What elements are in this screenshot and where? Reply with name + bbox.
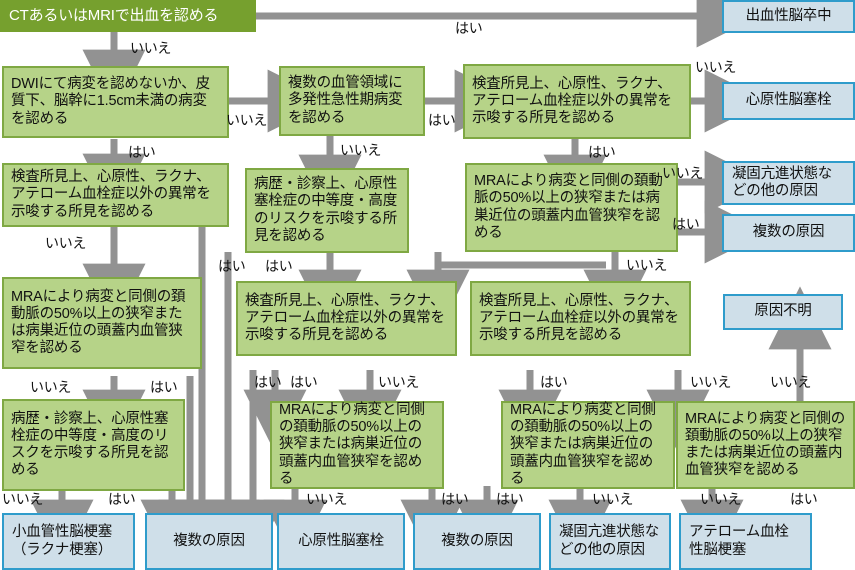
edge-label-mrac4-no2: いいえ (700, 489, 741, 509)
decision-mra-stenosis-c3[interactable]: MRAにより病変と同側の頚動脈の50%以上の狭窄または病巣近位の頭蓋内血管狭窄を… (501, 401, 675, 489)
node-label: MRAにより病変と同側の頚動脈の50%以上の狭窄または病巣近位の頭蓋内血管狭窄を… (510, 402, 666, 488)
node-label: CTあるいはMRIで出血を認める (9, 7, 247, 25)
edge-label-mrarighttop-no: いいえ (662, 163, 703, 183)
node-label: 凝固亢進状態などの他の原因 (732, 166, 845, 200)
node-label: 複数の原因 (423, 533, 531, 550)
outcome-hypercoagulable-bottom[interactable]: 凝固亢進状態などの他の原因 (549, 513, 671, 570)
decision-history-cardioembolic-risk-left[interactable]: 病歴・診察上、心原性塞栓症の中等度・高度のリスクを示唆する所見を認める (2, 399, 185, 491)
edge-label-mramid-yes: はい (441, 489, 468, 509)
outcome-multiple-causes-top[interactable]: 複数の原因 (722, 214, 855, 252)
decision-mra-stenosis-mid[interactable]: MRAにより病変と同側の頚動脈の50%以上の狭窄または病巣近位の頭蓋内血管狭窄を… (270, 401, 444, 489)
edge-label-mramid-no: いいえ (306, 489, 347, 509)
edge-label-labmid-no: いいえ (378, 372, 419, 392)
node-label: 心原性脳塞栓 (732, 92, 845, 109)
edge-label-dwi-yes: はい (128, 142, 155, 162)
edge-label-mraleft-yes: はい (150, 377, 177, 397)
node-label: 複数の原因 (155, 533, 263, 550)
edge-label-mrarighttop-yes: はい (672, 214, 699, 234)
decision-mra-stenosis-left[interactable]: MRAにより病変と同側の頚動脈の50%以上の狭窄または病巣近位の頭蓋内血管狭窄を… (2, 277, 202, 369)
node-label: 検査所見上、心原性、ラクナ、アテローム血栓症以外の異常を示唆する所見を認める (245, 293, 448, 344)
decision-lab-findings-left[interactable]: 検査所見上、心原性、ラクナ、アテローム血栓症以外の異常を示唆する所見を認める (2, 163, 229, 227)
outcome-cardioembolic-bottom[interactable]: 心原性脳塞栓 (277, 513, 405, 570)
edge-label-histleft-yes: はい (108, 489, 135, 509)
edge-label-labmid-yes: はい (254, 372, 281, 392)
outcome-unknown-cause[interactable]: 原因不明 (723, 294, 843, 330)
outcome-multiple-causes-b2[interactable]: 複数の原因 (413, 513, 541, 570)
outcome-atherothrombotic-infarction[interactable]: アテローム血栓性脳梗塞 (679, 513, 812, 570)
node-label: 小血管性脳梗塞（ラクナ梗塞） (12, 524, 125, 558)
node-label: 検査所見上、心原性、ラクナ、アテローム血栓症以外の異常を示唆する所見を認める (11, 169, 220, 220)
edge-label-lableft-yes: はい (218, 256, 245, 276)
node-label: 検査所見上、心原性、ラクナ、アテローム血栓症以外の異常を示唆する所見を認める (472, 76, 682, 127)
decision-history-cardioembolic-risk-mid[interactable]: 病歴・診察上、心原性塞栓症の中等度・高度のリスクを示唆する所見を認める (245, 168, 409, 253)
outcome-hemorrhagic-stroke[interactable]: 出血性脳卒中 (722, 0, 855, 33)
edge-label-labright-yes: はい (540, 372, 567, 392)
edge-label-mrarighttop-no2: いいえ (626, 255, 667, 275)
outcome-cardioembolic-top[interactable]: 心原性脳塞栓 (722, 82, 855, 120)
edge-label-histleft-no: いいえ (2, 489, 43, 509)
edge-label-mrac3-yes: はい (496, 489, 523, 509)
edge-label-mrac3b-no: いいえ (592, 489, 633, 509)
edge-label-labmid-yes2: はい (290, 372, 317, 392)
flowchart-canvas: CTあるいはMRIで出血を認める 出血性脳卒中 DWIにて病変を認めないか、皮質… (0, 0, 855, 570)
node-label: MRAにより病変と同側の頚動脈の50%以上の狭窄または病巣近位の頭蓋内血管狭窄を… (685, 411, 846, 479)
node-label: 心原性脳塞栓 (287, 533, 395, 550)
decision-lab-findings-mid[interactable]: 検査所見上、心原性、ラクナ、アテローム血栓症以外の異常を示唆する所見を認める (236, 281, 457, 356)
node-label: 原因不明 (733, 303, 833, 320)
outcome-small-vessel-lacunar[interactable]: 小血管性脳梗塞（ラクナ梗塞） (2, 513, 135, 570)
node-label: 病歴・診察上、心原性塞栓症の中等度・高度のリスクを示唆する所見を認める (254, 176, 400, 244)
node-label: MRAにより病変と同側の頚動脈の50%以上の狭窄または病巣近位の頭蓋内血管狭窄を… (11, 289, 193, 357)
edge-label-labright-no: いいえ (690, 372, 731, 392)
edge-label-multiterritory-no: いいえ (340, 140, 381, 160)
decision-lab-findings-right[interactable]: 検査所見上、心原性、ラクナ、アテローム血栓症以外の異常を示唆する所見を認める (470, 281, 691, 356)
node-label: 病歴・診察上、心原性塞栓症の中等度・高度のリスクを示唆する所見を認める (11, 411, 176, 479)
node-label: 複数の原因 (732, 224, 845, 241)
edge-label-mraleft-no: いいえ (30, 377, 71, 397)
edge-label-mrac4-yes: はい (790, 489, 817, 509)
edge-label-multiterritory-yes: はい (428, 110, 455, 130)
decision-dwi-lesion[interactable]: DWIにて病変を認めないか、皮質下、脳幹に1.5cm未満の病変を認める (2, 66, 229, 138)
outcome-multiple-causes-b1[interactable]: 複数の原因 (145, 513, 273, 570)
edge-label-root-no: いいえ (130, 38, 171, 58)
edge-label-lableft-no: いいえ (45, 233, 86, 253)
node-label: 凝固亢進状態などの他の原因 (559, 524, 661, 558)
edge-label-histmid-yes: はい (265, 256, 292, 276)
edge-label-root-yes: はい (455, 18, 482, 38)
decision-lab-findings-top-right[interactable]: 検査所見上、心原性、ラクナ、アテローム血栓症以外の異常を示唆する所見を認める (463, 64, 691, 139)
node-label: MRAにより病変と同側の頚動脈の50%以上の狭窄または病巣近位の頭蓋内血管狭窄を… (474, 173, 669, 241)
edge-label-dwi-no: いいえ (226, 110, 267, 130)
node-root-ct-mri-hemorrhage[interactable]: CTあるいはMRIで出血を認める (0, 0, 256, 32)
decision-mra-stenosis-c4[interactable]: MRAにより病変と同側の頚動脈の50%以上の狭窄または病巣近位の頭蓋内血管狭窄を… (676, 401, 855, 489)
node-label: MRAにより病変と同側の頚動脈の50%以上の狭窄または病巣近位の頭蓋内血管狭窄を… (279, 402, 435, 488)
edge-label-labtopright-no: いいえ (695, 57, 736, 77)
node-label: 検査所見上、心原性、ラクナ、アテローム血栓症以外の異常を示唆する所見を認める (479, 293, 682, 344)
outcome-hypercoagulable-top[interactable]: 凝固亢進状態などの他の原因 (722, 161, 855, 205)
node-label: DWIにて病変を認めないか、皮質下、脳幹に1.5cm未満の病変を認める (11, 76, 220, 127)
node-label: アテローム血栓性脳梗塞 (689, 524, 802, 558)
decision-mra-stenosis-right-top[interactable]: MRAにより病変と同側の頚動脈の50%以上の狭窄または病巣近位の頭蓋内血管狭窄を… (465, 163, 678, 252)
node-label: 出血性脳卒中 (732, 8, 845, 25)
edge-label-mrac4-no-up: いいえ (770, 372, 811, 392)
node-label: 複数の血管領域に多発性急性期病変を認める (288, 75, 416, 126)
decision-multiple-vascular-territory[interactable]: 複数の血管領域に多発性急性期病変を認める (279, 66, 425, 136)
edge-label-labtopright-yes: はい (588, 142, 615, 162)
